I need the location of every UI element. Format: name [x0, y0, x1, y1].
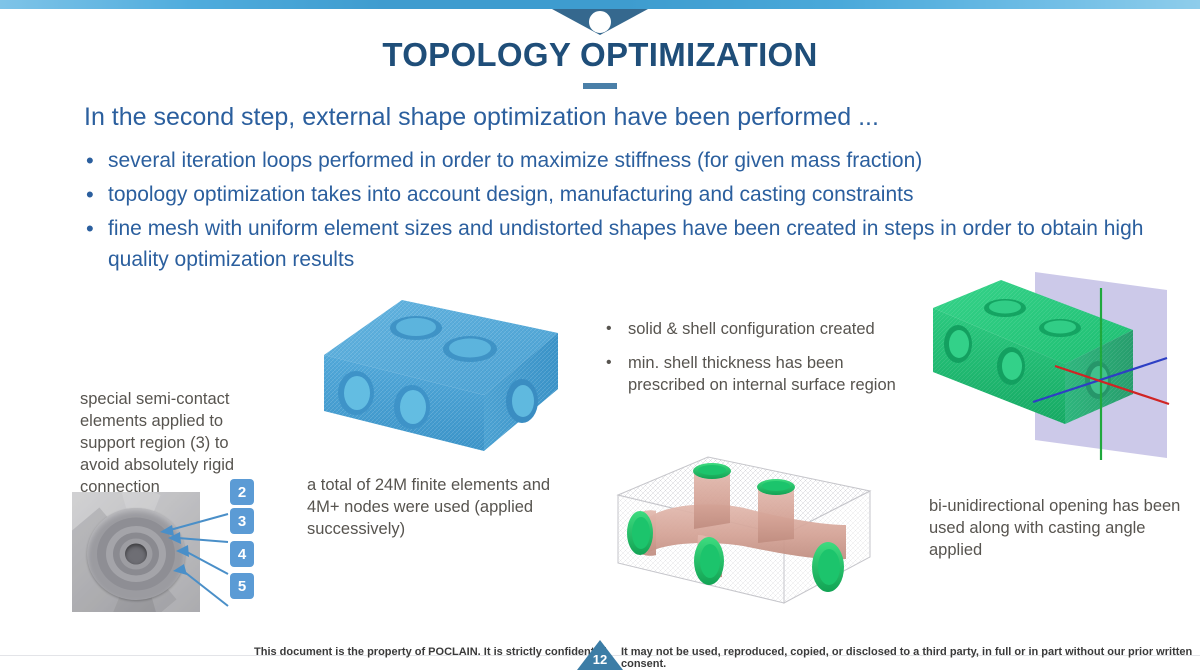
green-block-caption: bi-unidirectional opening has been used … — [929, 495, 1200, 561]
bullet-text: solid & shell configuration created — [628, 318, 896, 340]
list-item: • fine mesh with uniform element sizes a… — [80, 213, 1180, 275]
lead-sentence: In the second step, external shape optim… — [84, 103, 879, 132]
blue-block-caption: a total of 24M finite elements and 4M+ n… — [307, 474, 567, 540]
bullet-text: several iteration loops performed in ord… — [108, 145, 1180, 176]
callout-badge-5: 5 — [230, 573, 254, 599]
bullet-text: min. shell thickness has been prescribed… — [628, 352, 896, 396]
slide-root: TOPOLOGY OPTIMIZATION In the second step… — [0, 0, 1200, 672]
semi-contact-element-image — [72, 492, 200, 612]
bullet-marker-icon: • — [80, 145, 108, 176]
callout-badge-3: 3 — [230, 508, 254, 534]
list-item: • solid & shell configuration created — [606, 318, 896, 340]
callout-badge-2: 2 — [230, 479, 254, 505]
list-item: • several iteration loops performed in o… — [80, 145, 1180, 176]
page-title: TOPOLOGY OPTIMIZATION — [0, 36, 1200, 74]
list-item: • topology optimization takes into accou… — [80, 179, 1180, 210]
bullet-marker-icon: • — [80, 179, 108, 210]
callout-badge-4: 4 — [230, 541, 254, 567]
solid-shell-configuration-image — [598, 443, 888, 628]
bullet-marker-icon: • — [80, 213, 108, 244]
footer: This document is the property of POCLAIN… — [0, 640, 1200, 672]
bullet-marker-icon: • — [606, 352, 628, 374]
green-block-casting-image — [905, 268, 1195, 478]
footer-confidentiality-right: It may not be used, reproduced, copied, … — [621, 646, 1200, 670]
center-bullet-list: • solid & shell configuration created • … — [606, 318, 896, 408]
bullet-text: topology optimization takes into account… — [108, 179, 1180, 210]
page-number: 12 — [593, 652, 607, 667]
blue-mesh-block-image — [310, 283, 570, 463]
chevron-ornament — [552, 9, 648, 35]
chevron-circle-icon — [589, 11, 611, 33]
top-gradient-bar — [0, 0, 1200, 9]
list-item: • min. shell thickness has been prescrib… — [606, 352, 896, 396]
main-bullet-list: • several iteration loops performed in o… — [80, 145, 1180, 278]
footer-confidentiality-left: This document is the property of POCLAIN… — [254, 646, 610, 658]
title-underline — [583, 83, 617, 89]
bullet-text: fine mesh with uniform element sizes and… — [108, 213, 1180, 275]
bullet-marker-icon: • — [606, 318, 628, 340]
